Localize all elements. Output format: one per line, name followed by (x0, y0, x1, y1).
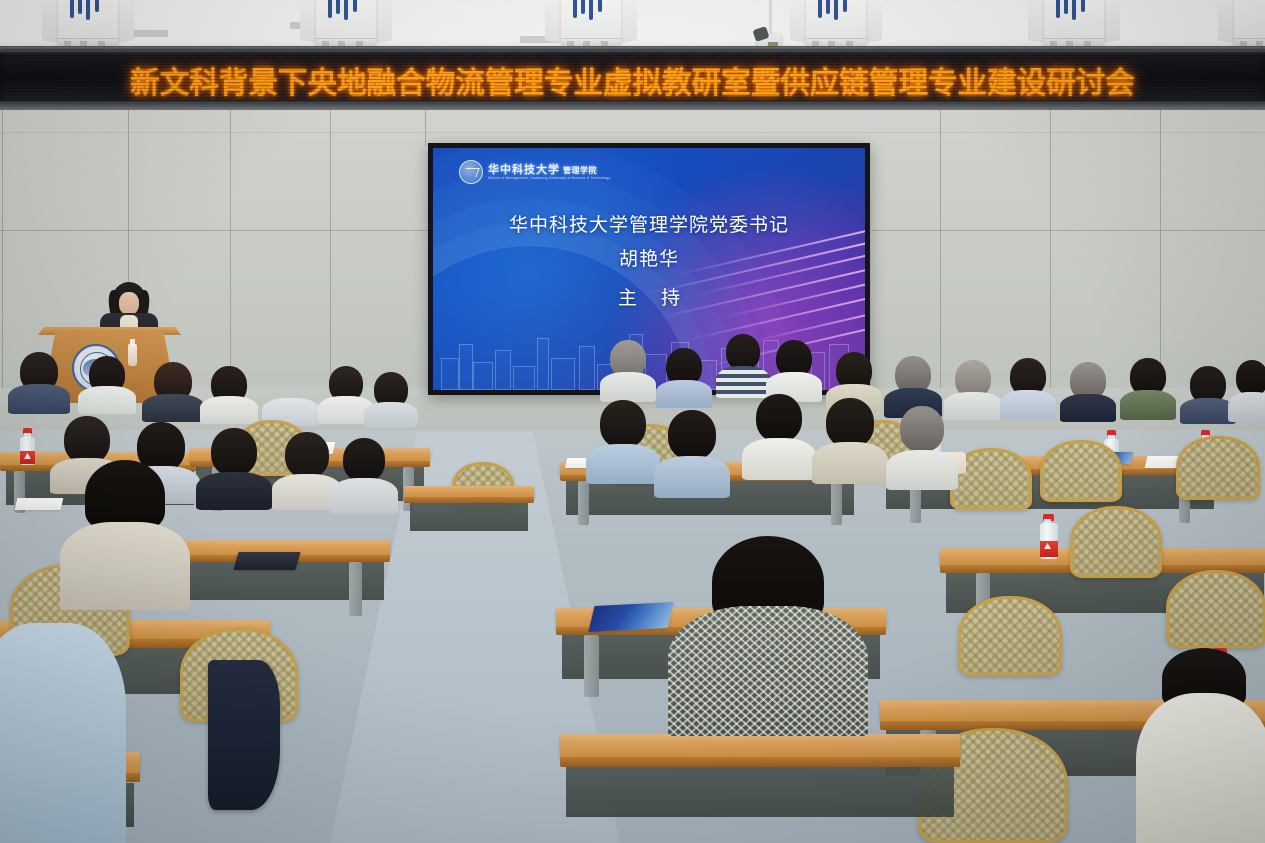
attendee (1228, 360, 1265, 422)
tablet-device (233, 552, 300, 570)
cable-bundle-icon (571, 0, 611, 22)
slide-line-role: 主 持 (433, 284, 865, 313)
slide-text-block: 华中科技大学管理学院党委书记 胡艳华 主 持 (433, 212, 865, 313)
water-bottle (1040, 514, 1058, 550)
attendee (586, 400, 660, 484)
attendee (1060, 362, 1116, 422)
desk (404, 486, 534, 538)
desk (560, 734, 960, 843)
attendee (716, 334, 770, 398)
conference-brochure (588, 602, 673, 632)
attendee (330, 438, 398, 514)
chair[interactable] (1176, 436, 1260, 500)
slide-university-logo: 华中科技大学管理学院 School of Management, Huazhon… (459, 160, 610, 184)
draped-jacket (208, 660, 280, 810)
handout-paper (15, 498, 64, 510)
slide-line-title: 华中科技大学管理学院党委书记 (433, 212, 865, 239)
attendee (812, 398, 888, 484)
logo-english-name: School of Management, Huazhong Universit… (488, 177, 610, 180)
attendee (142, 362, 204, 422)
attendee (766, 340, 822, 402)
attendee (656, 348, 712, 408)
chair[interactable] (1070, 506, 1162, 578)
water-bottle (20, 428, 35, 456)
university-emblem-icon (459, 160, 483, 184)
conference-room-photo: 新文科背景下央地融合物流管理专业虚拟教研室暨供应链管理专业建设研讨会 (0, 0, 1265, 843)
attendee (1000, 358, 1056, 420)
chair[interactable] (1040, 440, 1122, 502)
attendee (600, 340, 656, 402)
attendee (1120, 358, 1176, 420)
attendee (364, 372, 418, 428)
attendee-foreground (1136, 648, 1265, 843)
cable-bundle-icon (326, 0, 366, 22)
attendee (200, 366, 258, 424)
attendee (262, 368, 320, 426)
attendee (78, 356, 136, 414)
attendee (654, 410, 730, 498)
chair[interactable] (1166, 570, 1265, 648)
attendee (8, 352, 70, 414)
logo-university-name: 华中科技大学 (488, 163, 560, 176)
logo-school-name: 管理学院 (563, 166, 597, 175)
cable-bundle-icon (1054, 0, 1094, 22)
attendee (886, 406, 958, 490)
attendee-foreground (0, 608, 126, 843)
cable-bundle-icon (68, 0, 108, 22)
attendee (196, 428, 272, 510)
cable-bundle-icon (816, 0, 856, 22)
attendee-foreground (668, 536, 868, 736)
led-banner: 新文科背景下央地融合物流管理专业虚拟教研室暨供应链管理专业建设研讨会 (0, 46, 1265, 110)
chair[interactable] (958, 596, 1062, 676)
attendee-foreground (60, 460, 190, 610)
slide-line-name: 胡艳华 (433, 245, 865, 274)
led-banner-text: 新文科背景下央地融合物流管理专业虚拟教研室暨供应链管理专业建设研讨会 (9, 58, 1255, 102)
attendee (742, 394, 816, 480)
